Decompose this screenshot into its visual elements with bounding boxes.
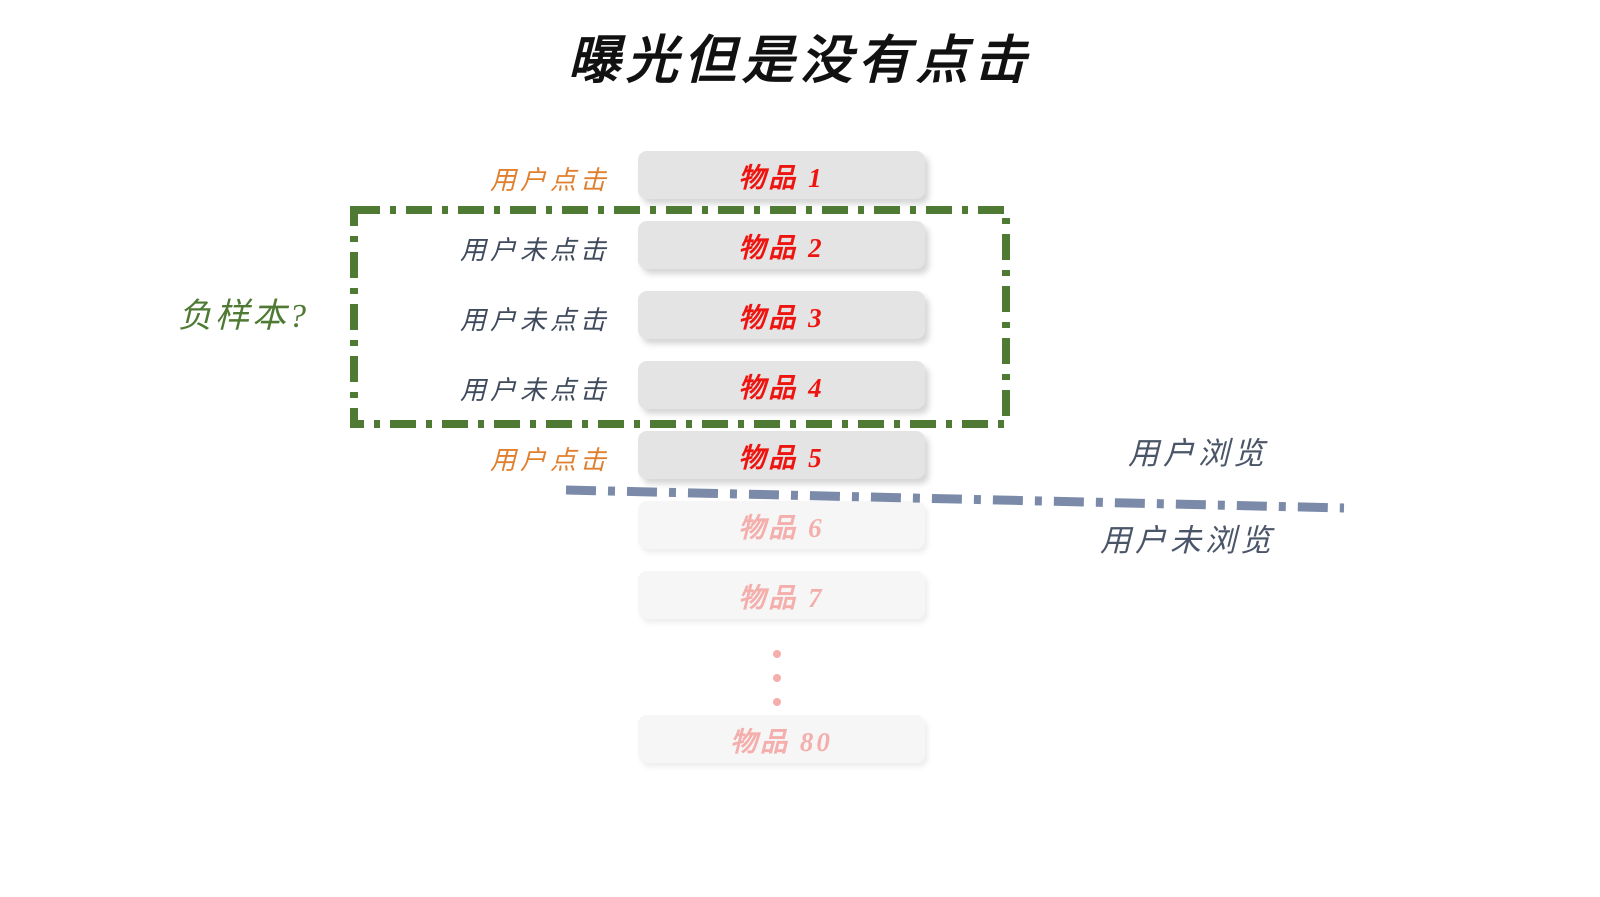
slide-canvas: 曝光但是没有点击 用户点击 物品 1 用户未点击 物品 2 用户未点击 物品 3… bbox=[0, 0, 1600, 897]
browse-above-label: 用户浏览 bbox=[1128, 428, 1268, 473]
side-label-clicked: 用户点击 bbox=[490, 160, 610, 197]
negative-sample-label: 负样本? bbox=[178, 288, 309, 337]
item-label: 物品 5 bbox=[738, 436, 824, 475]
item-row[interactable]: 用户点击 物品 5 bbox=[0, 431, 1600, 479]
page-title: 曝光但是没有点击 bbox=[0, 18, 1600, 93]
item-row-faded[interactable]: 物品 80 bbox=[0, 715, 1600, 763]
side-label-unclicked: 用户未点击 bbox=[460, 230, 610, 267]
item-pill[interactable]: 物品 1 bbox=[638, 151, 925, 199]
item-label: 物品 3 bbox=[738, 296, 824, 335]
item-row-faded[interactable]: 物品 6 bbox=[0, 501, 1600, 549]
item-label: 物品 1 bbox=[738, 156, 824, 195]
item-row[interactable]: 用户未点击 物品 2 bbox=[0, 221, 1600, 269]
item-pill-faded[interactable]: 物品 80 bbox=[638, 715, 925, 763]
vertical-ellipsis-icon bbox=[772, 650, 782, 706]
item-row-faded[interactable]: 物品 7 bbox=[0, 571, 1600, 619]
side-label-clicked: 用户点击 bbox=[490, 440, 610, 477]
ellipsis-dot bbox=[773, 650, 781, 658]
side-label-unclicked: 用户未点击 bbox=[460, 300, 610, 337]
item-pill[interactable]: 物品 4 bbox=[638, 361, 925, 409]
item-label: 物品 4 bbox=[738, 366, 824, 405]
item-row[interactable]: 用户点击 物品 1 bbox=[0, 151, 1600, 199]
item-pill[interactable]: 物品 2 bbox=[638, 221, 925, 269]
item-label: 物品 7 bbox=[738, 576, 824, 615]
item-pill-faded[interactable]: 物品 7 bbox=[638, 571, 925, 619]
ellipsis-dot bbox=[773, 698, 781, 706]
item-label: 物品 6 bbox=[738, 506, 824, 545]
item-pill[interactable]: 物品 5 bbox=[638, 431, 925, 479]
item-pill-faded[interactable]: 物品 6 bbox=[638, 501, 925, 549]
item-pill[interactable]: 物品 3 bbox=[638, 291, 925, 339]
item-row[interactable]: 用户未点击 物品 4 bbox=[0, 361, 1600, 409]
ellipsis-dot bbox=[773, 674, 781, 682]
item-label: 物品 80 bbox=[730, 720, 833, 759]
side-label-unclicked: 用户未点击 bbox=[460, 370, 610, 407]
browse-below-label: 用户未浏览 bbox=[1100, 515, 1275, 560]
item-label: 物品 2 bbox=[738, 226, 824, 265]
